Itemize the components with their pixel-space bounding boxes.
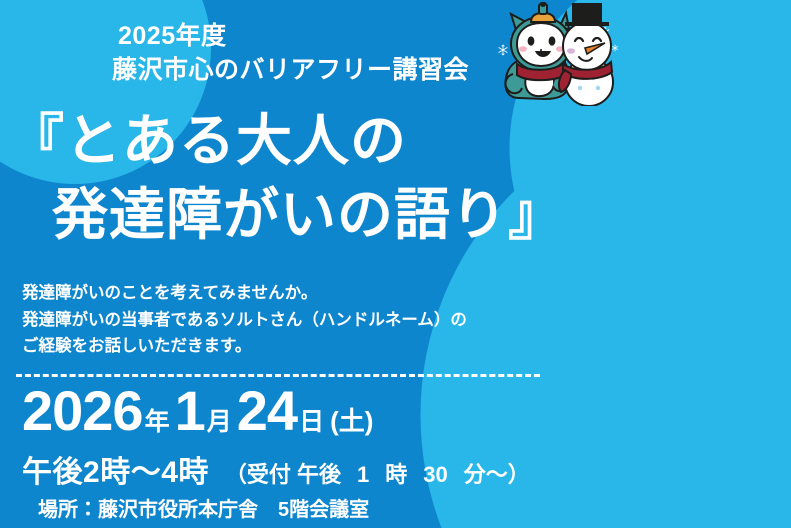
lead-line-1: 発達障がいのことを考えてみませんか。 xyxy=(22,280,542,307)
date-year-unit: 年 xyxy=(143,410,175,435)
date-month-value: 1 xyxy=(175,383,205,439)
time-range-mark: 〜 xyxy=(131,458,162,488)
fiscal-year-label: 2025年度 xyxy=(112,20,502,54)
time-hour-unit-1: 時 xyxy=(100,458,131,488)
date-day-unit: 日 xyxy=(297,410,329,435)
event-time: 午後 2 時 〜 4 時 （受付 午後 1 時 30 分〜） xyxy=(22,458,530,488)
reception-minute-value: 30 xyxy=(407,464,447,486)
reception-minute-unit: 分〜） xyxy=(448,464,530,486)
reception-hour-value: 1 xyxy=(341,464,369,486)
time-hour-unit-2: 時 xyxy=(178,458,209,488)
event-poster: 2025年度 藤沢市心のバリアフリー講習会 xyxy=(0,0,791,528)
header-block: 2025年度 藤沢市心のバリアフリー講習会 xyxy=(112,20,502,87)
reception-hour-unit: 時 xyxy=(369,464,407,486)
date-day-of-week: (土) xyxy=(329,408,373,434)
main-title: 『とある大人の 発達障がいの語り』 xyxy=(8,104,588,253)
reception-open-label: （受付 午後 xyxy=(209,464,341,486)
main-title-line-1: 『とある大人の xyxy=(8,104,588,178)
date-year-value: 2026 xyxy=(22,383,143,439)
program-name-label: 藤沢市心のバリアフリー講習会 xyxy=(112,54,502,88)
lead-line-2: 発達障がいの当事者であるソルトさん（ハンドルネーム）の xyxy=(22,307,542,334)
time-end-hour: 4 xyxy=(161,458,178,488)
lead-paragraph: 発達障がいのことを考えてみませんか。 発達障がいの当事者であるソルトさん（ハンド… xyxy=(22,280,542,360)
lead-line-3: ご経験をお話しいただきます。 xyxy=(22,333,542,360)
date-month-unit: 月 xyxy=(205,410,237,435)
mascot-illustration xyxy=(497,2,623,106)
time-start-hour: 2 xyxy=(83,458,100,488)
event-date: 2026 年 1 月 24 日 (土) xyxy=(22,383,373,439)
date-day-value: 24 xyxy=(237,383,297,439)
event-venue: 場所：藤沢市役所本庁舎 5階会議室 xyxy=(38,500,369,520)
time-period-prefix: 午後 xyxy=(22,458,83,488)
dashed-divider xyxy=(16,374,540,377)
main-title-line-2: 発達障がいの語り』 xyxy=(8,178,588,252)
